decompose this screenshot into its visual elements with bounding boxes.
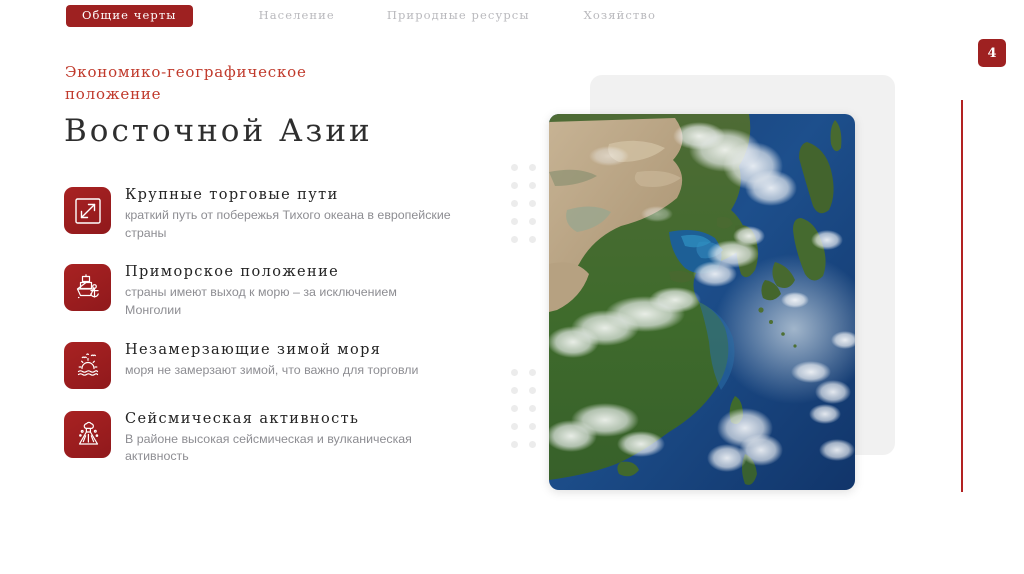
feature-description: краткий путь от побережья Тихого океана … [125, 207, 455, 242]
nav-tab-prirodnye-resursy[interactable]: Природные ресурсы [387, 10, 530, 22]
feature-title: Приморское положение [125, 263, 455, 281]
dot-grid-top [505, 158, 541, 248]
expand-arrow-icon [64, 187, 111, 234]
dot [529, 218, 536, 225]
feature-item: Незамерзающие зимой моря моря не замерза… [64, 340, 474, 389]
dot [511, 405, 518, 412]
volcano-icon [64, 411, 111, 458]
satellite-photo-east-asia [549, 114, 855, 490]
dot [511, 423, 518, 430]
top-navigation: Общие черты Население Природные ресурсы … [66, 4, 656, 28]
dot [529, 164, 536, 171]
dot [529, 441, 536, 448]
nav-tab-hozyaystvo[interactable]: Хозяйство [584, 10, 656, 22]
sunrise-sea-icon [64, 342, 111, 389]
dot [529, 182, 536, 189]
ship-anchor-icon [64, 264, 111, 311]
feature-description: страны имеют выход к морю – за исключени… [125, 284, 455, 319]
nav-tab-obshchie-cherty[interactable]: Общие черты [66, 5, 193, 28]
feature-item: Крупные торговые пути краткий путь от по… [64, 185, 474, 242]
dot-grid-bottom [505, 363, 541, 453]
feature-description: В районе высокая сейсмическая и вулканич… [125, 431, 455, 466]
dot [529, 423, 536, 430]
dot [511, 387, 518, 394]
page-title: Восточной Азии [64, 114, 373, 148]
satellite-image-graphic [549, 114, 855, 490]
feature-list: Крупные торговые пути краткий путь от по… [64, 185, 474, 466]
dot [529, 405, 536, 412]
dot [529, 200, 536, 207]
page-number-badge: 4 [978, 39, 1006, 67]
feature-title: Сейсмическая активность [125, 410, 455, 428]
dot [529, 236, 536, 243]
feature-item: Сейсмическая активность В районе высокая… [64, 409, 474, 466]
feature-description: моря не замерзают зимой, что важно для т… [125, 362, 418, 380]
feature-item: Приморское положение страны имеют выход … [64, 262, 474, 319]
dot [511, 236, 518, 243]
dot [511, 369, 518, 376]
dot [529, 369, 536, 376]
dot [529, 387, 536, 394]
dot [511, 164, 518, 171]
feature-title: Крупные торговые пути [125, 186, 455, 204]
section-eyebrow: Экономико-географическое положение [65, 62, 395, 106]
feature-title: Незамерзающие зимой моря [125, 341, 418, 359]
dot [511, 218, 518, 225]
dot [511, 441, 518, 448]
right-accent-rule [961, 100, 963, 492]
nav-tab-naselenie[interactable]: Население [259, 10, 335, 22]
dot [511, 182, 518, 189]
dot [511, 200, 518, 207]
